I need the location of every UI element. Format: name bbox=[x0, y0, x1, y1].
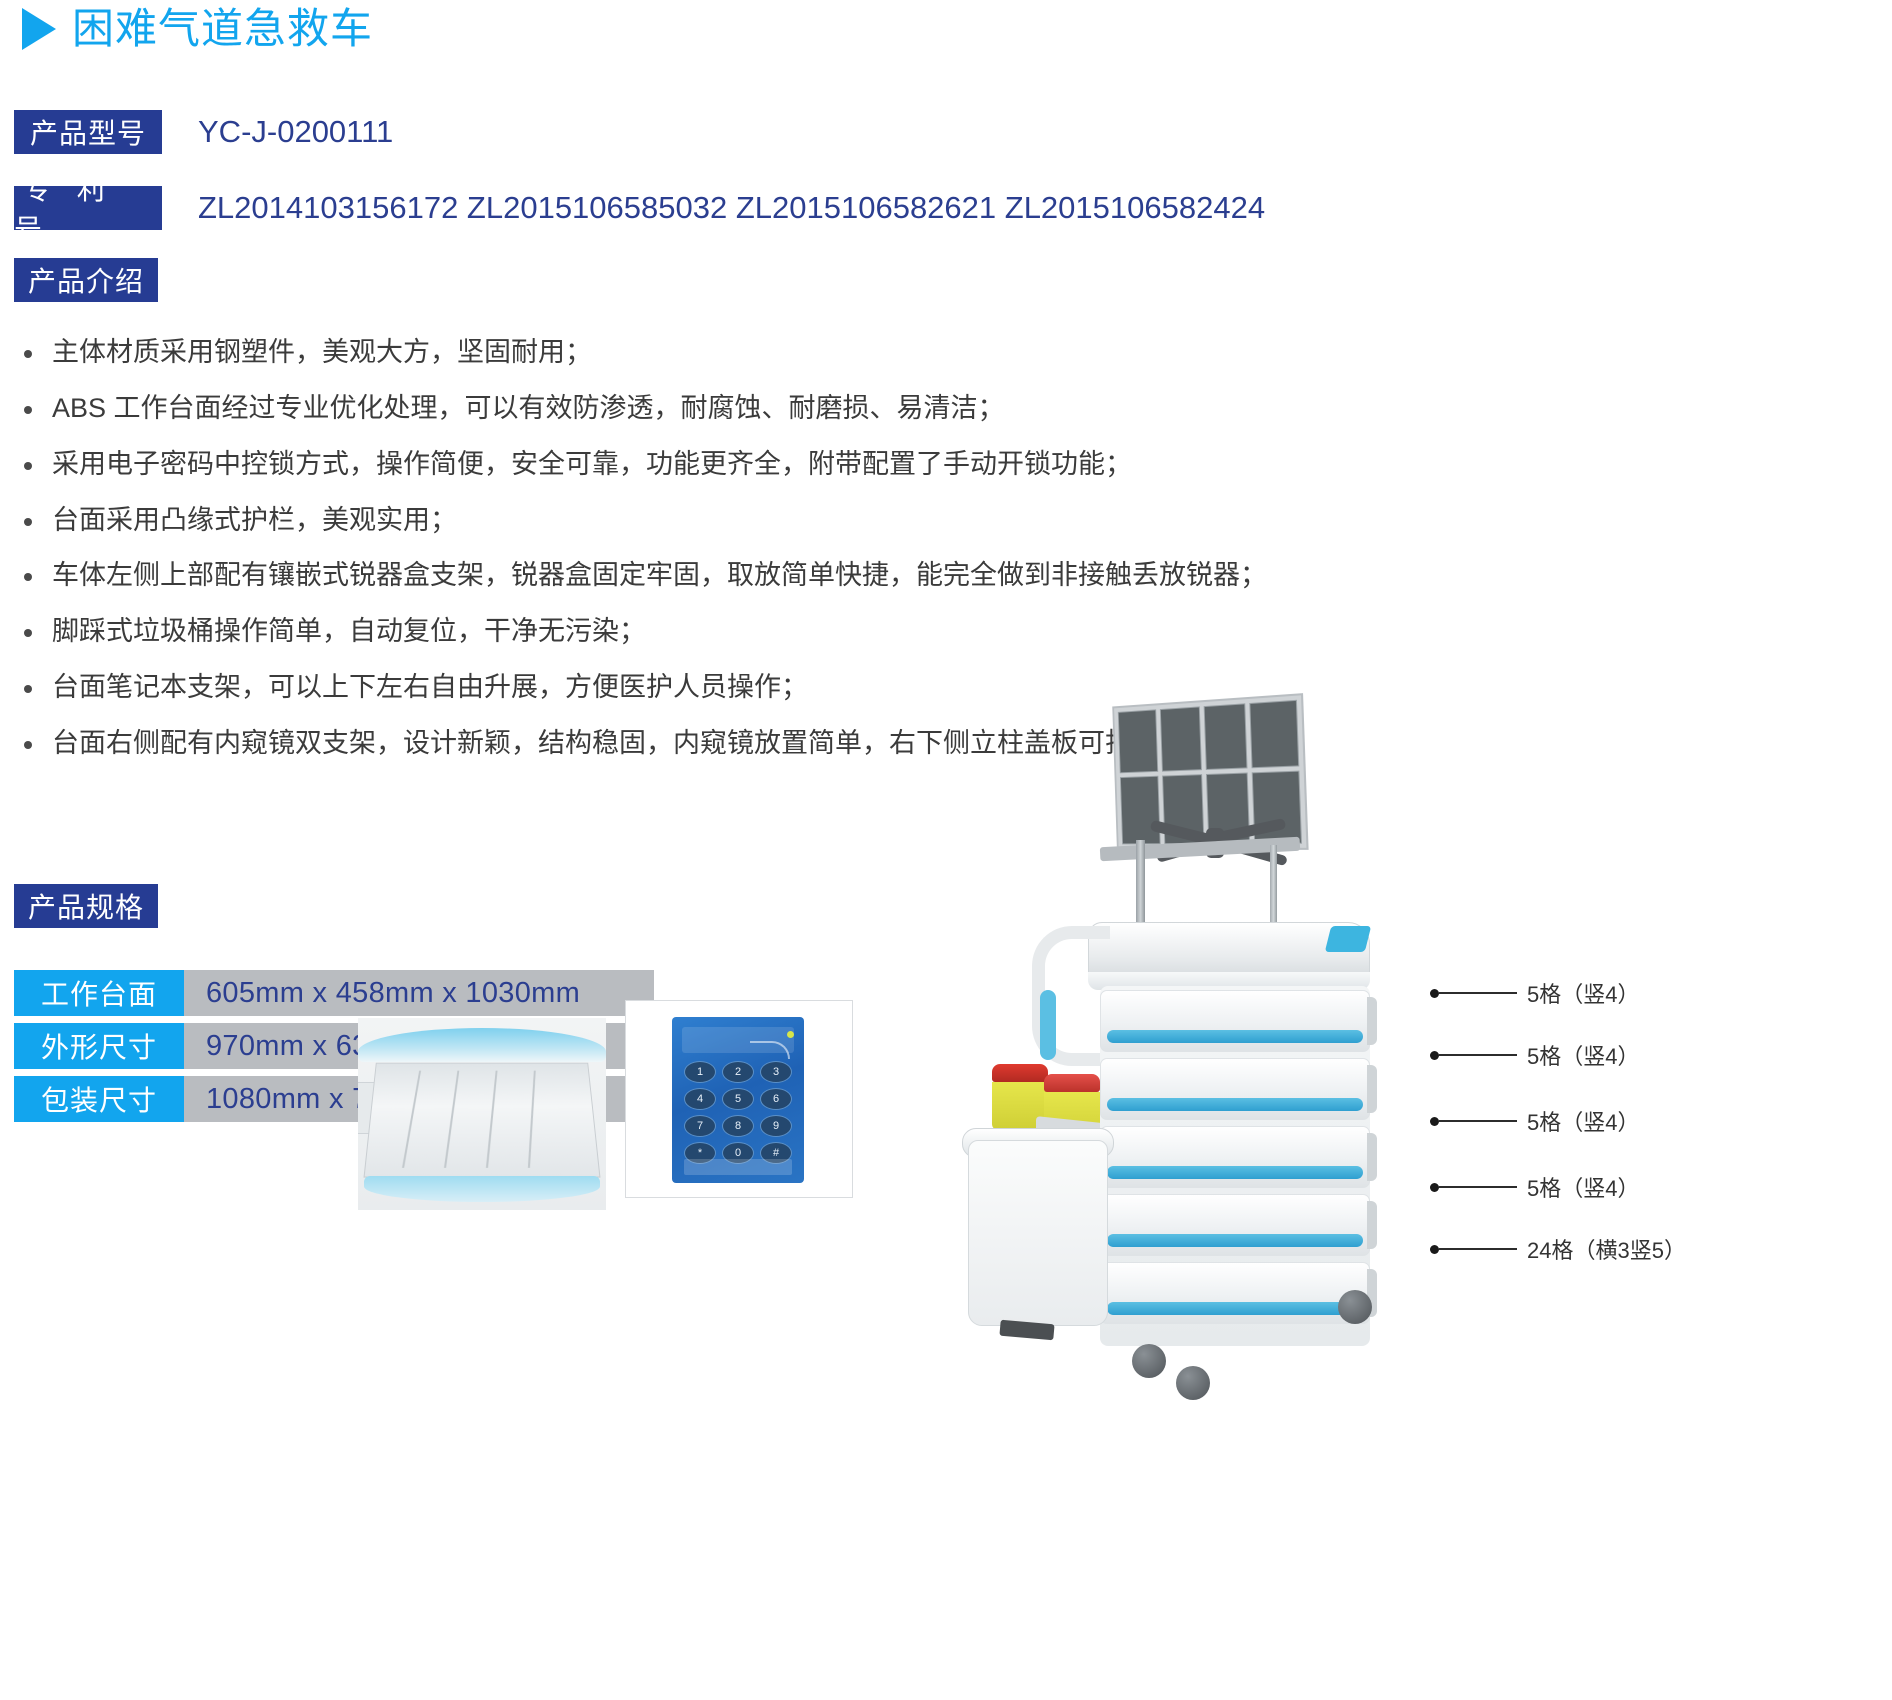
worktop-blue-accent bbox=[1325, 926, 1371, 952]
product-catalog-page: 困难气道急救车 产品型号 YC-J-0200111 专 利 号 ZL201410… bbox=[0, 0, 1892, 1700]
cabinet-drawer[interactable] bbox=[1100, 990, 1370, 1052]
bullet-dot-icon bbox=[24, 350, 32, 358]
bullet-dot-icon bbox=[24, 406, 32, 414]
callout-label: 5格（竖4） bbox=[1527, 1171, 1639, 1203]
section-label-spec: 产品规格 bbox=[14, 884, 158, 928]
push-handle-accent bbox=[1040, 990, 1056, 1060]
list-item-text: 台面采用凸缘式护栏，美观实用； bbox=[52, 500, 457, 542]
bullet-dot-icon bbox=[24, 573, 32, 581]
callout-label: 5格（竖4） bbox=[1527, 977, 1639, 1009]
table-row: 工作台面 605mm x 458mm x 1030mm bbox=[14, 970, 654, 1016]
drawer-top-edge bbox=[358, 1028, 606, 1062]
list-item-text: 采用电子密码中控锁方式，操作简便，安全可靠，功能更齐全，附带配置了手动开锁功能； bbox=[52, 444, 1132, 486]
list-item-text: 脚踩式垃圾桶操作简单，自动复位，干净无污染； bbox=[52, 611, 646, 653]
waste-bin bbox=[968, 1140, 1108, 1326]
keypad-key[interactable]: 9 bbox=[760, 1115, 792, 1137]
triangle-bullet-icon bbox=[22, 8, 56, 50]
foot-pedal[interactable] bbox=[999, 1320, 1054, 1341]
keypad-detail-photo: 1 2 3 4 5 6 7 8 9 * 0 # bbox=[625, 1000, 853, 1198]
keypad-key[interactable]: 2 bbox=[722, 1061, 754, 1083]
keypad-footer-strip bbox=[684, 1159, 792, 1175]
callout: 24格（横3竖5） bbox=[1430, 1236, 1686, 1262]
callout-dot-icon bbox=[1430, 1051, 1439, 1060]
spec-key: 工作台面 bbox=[14, 970, 184, 1016]
cabinet-drawer[interactable] bbox=[1100, 1262, 1370, 1324]
list-item: 脚踩式垃圾桶操作简单，自动复位，干净无污染； bbox=[14, 611, 1344, 653]
field-label-model: 产品型号 bbox=[14, 110, 162, 154]
callout-label: 5格（竖4） bbox=[1527, 1039, 1639, 1071]
product-photo bbox=[940, 690, 1460, 1410]
bullet-dot-icon bbox=[24, 462, 32, 470]
spec-key: 外形尺寸 bbox=[14, 1023, 184, 1069]
field-value-model: YC-J-0200111 bbox=[198, 114, 393, 150]
callout-dot-icon bbox=[1430, 1117, 1439, 1126]
keypad-led-icon bbox=[787, 1031, 794, 1038]
page-title-text: 困难气道急救车 bbox=[72, 8, 373, 50]
callout-leader-line bbox=[1439, 1120, 1517, 1122]
callout-label: 5格（竖4） bbox=[1527, 1105, 1639, 1137]
callout-dot-icon bbox=[1430, 1183, 1439, 1192]
keypad-key[interactable]: 4 bbox=[684, 1088, 716, 1110]
bullet-dot-icon bbox=[24, 518, 32, 526]
callout: 5格（竖4） bbox=[1430, 1108, 1639, 1134]
list-item-text: 车体左侧上部配有镶嵌式锐器盒支架，锐器盒固定牢固，取放简单快捷，能完全做到非接触… bbox=[52, 555, 1267, 597]
drawer-detail-photo bbox=[358, 1018, 606, 1210]
list-item: 采用电子密码中控锁方式，操作简便，安全可靠，功能更齐全，附带配置了手动开锁功能； bbox=[14, 444, 1344, 486]
list-item: 车体左侧上部配有镶嵌式锐器盒支架，锐器盒固定牢固，取放简单快捷，能完全做到非接触… bbox=[14, 555, 1344, 597]
list-item-text: 台面笔记本支架，可以上下左右自由升展，方便医护人员操作； bbox=[52, 667, 808, 709]
section-label-intro: 产品介绍 bbox=[14, 258, 158, 302]
keypad-key[interactable]: 6 bbox=[760, 1088, 792, 1110]
caster-wheel bbox=[1176, 1366, 1210, 1400]
callout: 5格（竖4） bbox=[1430, 1174, 1639, 1200]
keypad-key[interactable]: 7 bbox=[684, 1115, 716, 1137]
drawer-tray bbox=[363, 1063, 600, 1178]
drawer-bottom-edge bbox=[364, 1176, 600, 1202]
callout-label: 24格（横3竖5） bbox=[1527, 1233, 1686, 1265]
list-item: 主体材质采用钢塑件，美观大方，坚固耐用； bbox=[14, 332, 1344, 374]
bullet-dot-icon bbox=[24, 629, 32, 637]
keypad-key[interactable]: 5 bbox=[722, 1088, 754, 1110]
spec-key: 包装尺寸 bbox=[14, 1076, 184, 1122]
drawer-cabinet bbox=[1100, 986, 1370, 1346]
bullet-dot-icon bbox=[24, 741, 32, 749]
cabinet-drawer[interactable] bbox=[1100, 1194, 1370, 1256]
field-row-model: 产品型号 YC-J-0200111 bbox=[14, 110, 393, 154]
spec-value: 605mm x 458mm x 1030mm bbox=[184, 970, 654, 1016]
list-item-text: 主体材质采用钢塑件，美观大方，坚固耐用； bbox=[52, 332, 592, 374]
keypad-panel: 1 2 3 4 5 6 7 8 9 * 0 # bbox=[672, 1017, 804, 1183]
page-title: 困难气道急救车 bbox=[22, 8, 373, 50]
keypad-key[interactable]: 8 bbox=[722, 1115, 754, 1137]
callout: 5格（竖4） bbox=[1430, 1042, 1639, 1068]
callout-leader-line bbox=[1439, 1054, 1517, 1056]
callout: 5格（竖4） bbox=[1430, 980, 1639, 1006]
bullet-dot-icon bbox=[24, 685, 32, 693]
list-item: ABS 工作台面经过专业优化处理，可以有效防渗透，耐腐蚀、耐磨损、易清洁； bbox=[14, 388, 1344, 430]
callout-dot-icon bbox=[1430, 989, 1439, 998]
caster-wheel bbox=[1132, 1344, 1166, 1378]
cabinet-drawer[interactable] bbox=[1100, 1058, 1370, 1120]
callout-leader-line bbox=[1439, 992, 1517, 994]
field-label-patent: 专 利 号 bbox=[14, 186, 162, 230]
callout-leader-line bbox=[1439, 1248, 1517, 1250]
list-item: 台面采用凸缘式护栏，美观实用； bbox=[14, 500, 1344, 542]
cabinet-drawer[interactable] bbox=[1100, 1126, 1370, 1188]
callout-leader-line bbox=[1439, 1186, 1517, 1188]
field-value-patent: ZL2014103156172 ZL2015106585032 ZL201510… bbox=[198, 190, 1265, 226]
caster-wheel bbox=[1338, 1290, 1372, 1324]
keypad-keys: 1 2 3 4 5 6 7 8 9 * 0 # bbox=[684, 1061, 792, 1164]
list-item-text: ABS 工作台面经过专业优化处理，可以有效防渗透，耐腐蚀、耐磨损、易清洁； bbox=[52, 388, 1005, 430]
callout-dot-icon bbox=[1430, 1245, 1439, 1254]
keypad-key[interactable]: 1 bbox=[684, 1061, 716, 1083]
field-row-patent: 专 利 号 ZL2014103156172 ZL2015106585032 ZL… bbox=[14, 186, 1265, 230]
keypad-key[interactable]: 3 bbox=[760, 1061, 792, 1083]
